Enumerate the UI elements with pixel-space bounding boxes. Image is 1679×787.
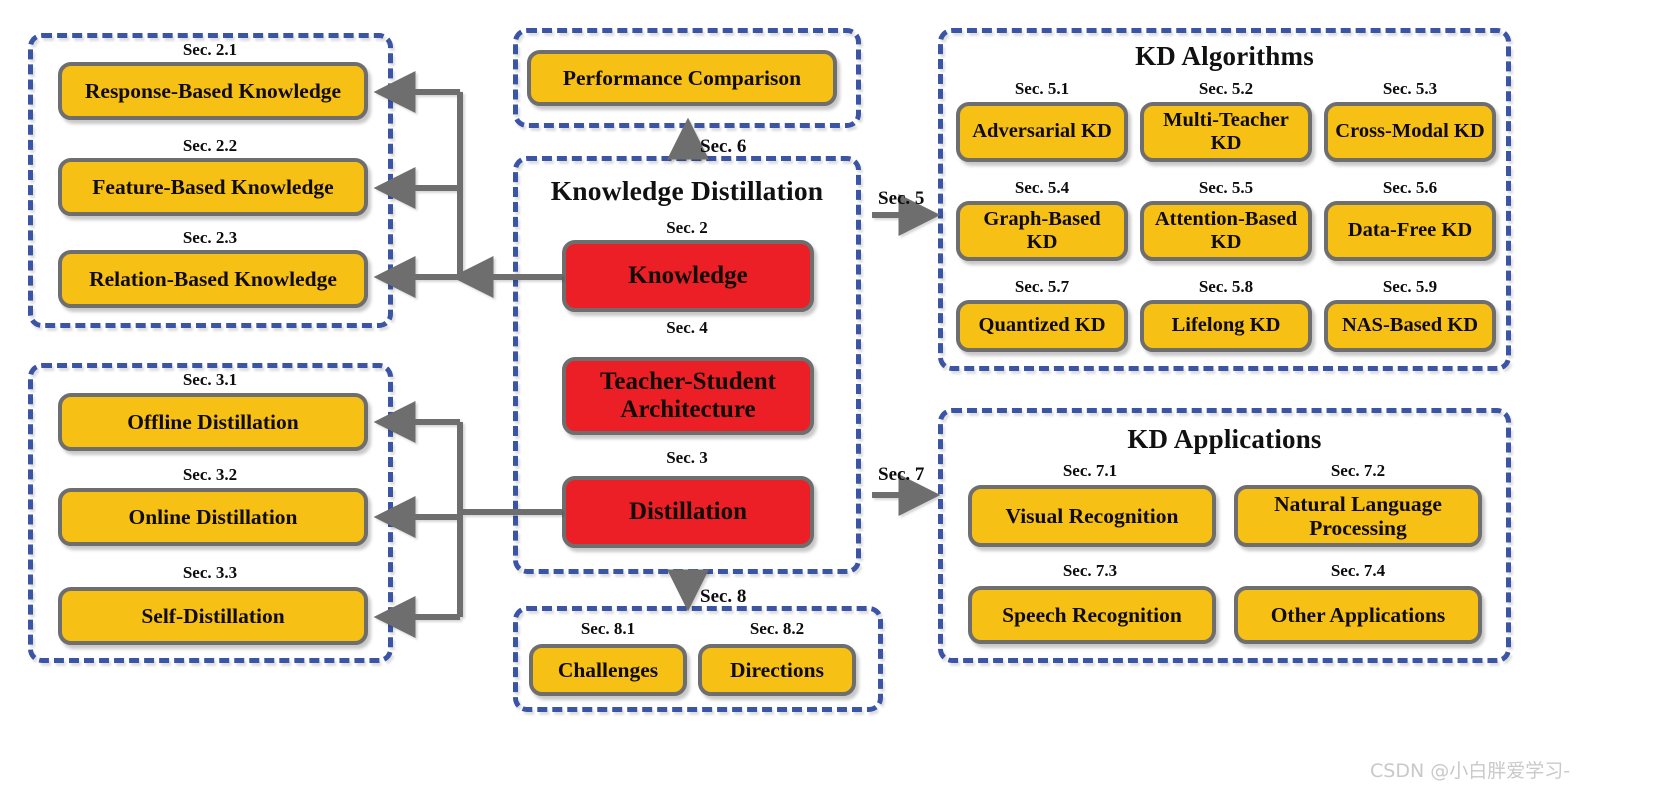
diagram-canvas: Sec. 2.1 Response-Based Knowledge Sec. 2… <box>0 0 1679 787</box>
watermark: CSDN @小白胖爱学习- <box>1370 756 1570 783</box>
sec-label-6: Sec. 6 <box>700 136 780 158</box>
sec-label-7: Sec. 7 <box>878 464 958 486</box>
sec-label-5: Sec. 5 <box>878 188 958 210</box>
connector-arrows <box>0 0 1679 787</box>
sec-label-8: Sec. 8 <box>700 586 780 608</box>
